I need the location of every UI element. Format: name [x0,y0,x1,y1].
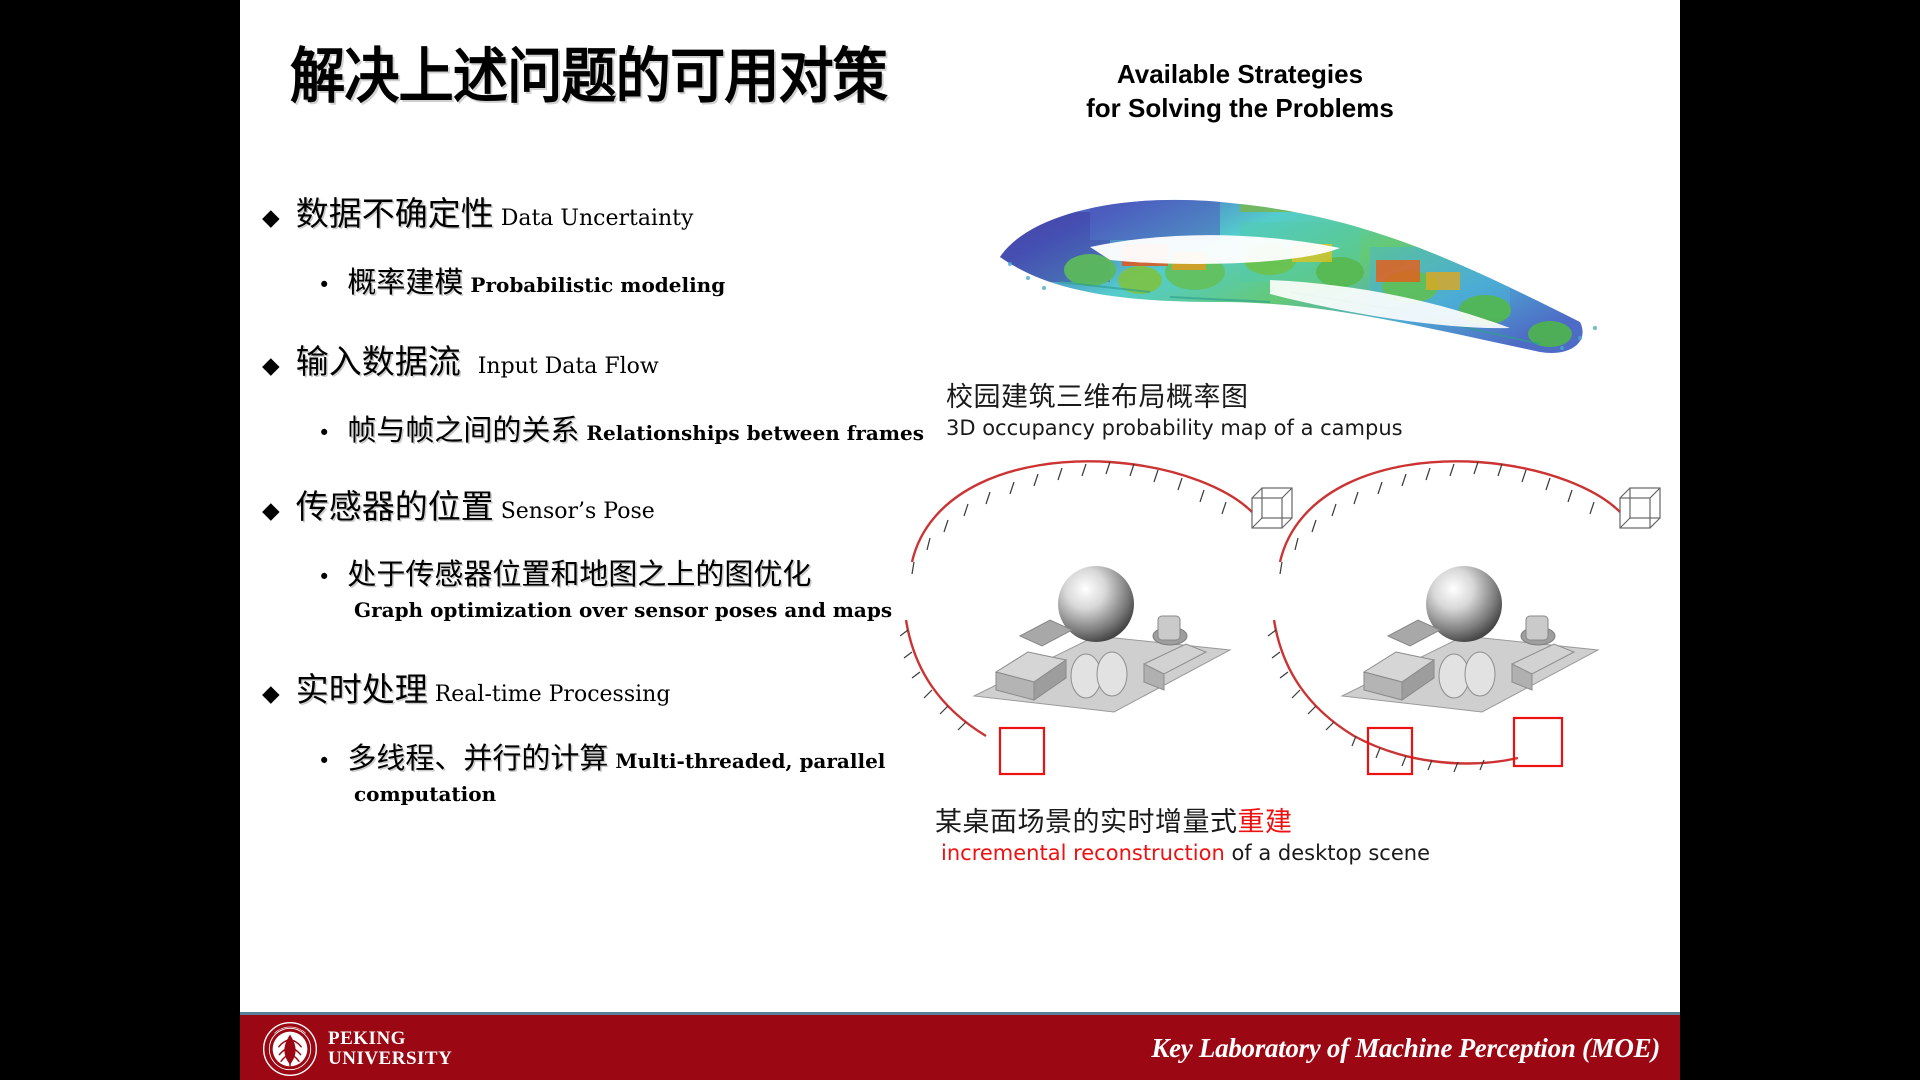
page-title-english: Available Strategies for Solving the Pro… [940,58,1540,126]
university-logo: PEKING UNIVERSITY [262,1021,452,1077]
university-logo-line1: PEKING [328,1029,452,1049]
caption-point-cloud: 校园建筑三维布局概率图 3D occupancy probability map… [946,375,1403,440]
sub-bullet-probabilistic-modeling: • 概率建模 Probabilistic modeling [318,259,725,301]
sub-bullet-graph-optimization: • 处于传感器位置和地图之上的图优化 Graph optimization ov… [318,551,892,622]
dot-bullet-icon: • [318,567,330,588]
camera-frustum-icon [1252,488,1292,528]
desktop-reconstruction-figure [900,440,1680,800]
dot-bullet-icon: • [318,275,330,296]
bullet-label-cn: 传感器的位置 [296,480,494,528]
caption-desktop-en-black: of a desktop scene [1225,841,1430,865]
bullet-label-en: Input Data Flow [478,354,659,379]
page-title-chinese: 解决上述问题的可用对策 [290,28,897,115]
sub-bullet-label-cn: 帧与帧之间的关系 [347,407,579,449]
bullet-label-cn: 数据不确定性 [296,187,494,235]
bullet-item-real-time-processing: ◆ 实时处理 Real-time Processing [262,663,670,711]
university-logo-text: PEKING UNIVERSITY [328,1029,452,1068]
bullet-label-en: Data Uncertainty [501,206,694,231]
peking-university-seal-icon [262,1021,318,1077]
sub-bullet-label-en: Probabilistic modeling [470,273,725,297]
desktop-reconstruction-image [900,440,1680,800]
new-keyframe-marker [1514,718,1562,766]
bullet-item-sensor-pose: ◆ 传感器的位置 Sensor’s Pose [262,480,655,528]
diamond-bullet-icon: ◆ [262,683,280,706]
university-logo-line2: UNIVERSITY [328,1049,452,1069]
bullet-label-cn: 实时处理 [296,663,428,711]
camera-frustum-icon [1620,488,1660,528]
bullet-item-data-uncertainty: ◆ 数据不确定性 Data Uncertainty [262,187,693,235]
desktop-panel-right [1268,461,1660,774]
sub-bullet-label-cn: 多线程、并行的计算 [347,735,608,777]
caption-desktop-cn: 某桌面场景的实时增量式重建 [935,800,1430,839]
desktop-panel-left [900,461,1292,774]
point-cloud-image [940,152,1640,392]
campus-point-cloud-figure [940,152,1640,392]
diamond-bullet-icon: ◆ [262,500,280,523]
current-keyframe-marker [1000,728,1044,774]
sub-bullet-label-en-wrap: computation [354,782,885,806]
page-title-english-line1: Available Strategies [940,58,1540,92]
desktop-scene-right [1342,566,1598,712]
dot-bullet-icon: • [318,423,330,444]
sub-bullet-relationships-between-frames: • 帧与帧之间的关系 Relationships between frames [318,407,924,449]
diamond-bullet-icon: ◆ [262,355,280,378]
diamond-bullet-icon: ◆ [262,207,280,230]
slide-footer: PEKING UNIVERSITY Key Laboratory of Mach… [240,1012,1680,1080]
caption-desktop-reconstruction: 某桌面场景的实时增量式重建 incremental reconstruction… [935,800,1430,865]
laboratory-name: Key Laboratory of Machine Perception (MO… [1151,1033,1660,1064]
dot-bullet-icon: • [318,751,330,772]
sub-bullet-label-cn: 概率建模 [347,259,463,301]
bullet-label-en: Sensor’s Pose [501,499,655,524]
caption-point-cloud-en: 3D occupancy probability map of a campus [946,416,1403,440]
caption-desktop-cn-black: 某桌面场景的实时增量式 [935,807,1238,838]
bullet-item-input-data-flow: ◆ 输入数据流 Input Data Flow [262,335,659,383]
caption-desktop-en-red: incremental reconstruction [941,841,1225,865]
screen: 解决上述问题的可用对策 Available Strategies for Sol… [0,0,1920,1080]
slide-canvas: 解决上述问题的可用对策 Available Strategies for Sol… [240,0,1680,1080]
bullet-label-en: Real-time Processing [435,682,671,707]
sub-bullet-multithreaded-computation: • 多线程、并行的计算 Multi-threaded, parallel com… [318,735,885,806]
slide-header: 解决上述问题的可用对策 Available Strategies for Sol… [240,0,1680,160]
caption-desktop-cn-red: 重建 [1238,807,1293,838]
bullet-label-cn: 输入数据流 [296,335,461,383]
bullet-list: ◆ 数据不确定性 Data Uncertainty • 概率建模 Probabi… [240,175,940,915]
sub-bullet-label-en: Relationships between frames [586,421,924,445]
page-title-english-line2: for Solving the Problems [940,92,1540,126]
desktop-scene-left [974,566,1230,712]
sub-bullet-label-en: Multi-threaded, parallel [615,749,885,773]
caption-desktop-en: incremental reconstruction of a desktop … [941,841,1430,865]
sub-bullet-label-cn: 处于传感器位置和地图之上的图优化 [347,551,811,593]
sub-bullet-label-en-wrap: Graph optimization over sensor poses and… [354,598,892,622]
caption-point-cloud-cn: 校园建筑三维布局概率图 [946,375,1403,414]
